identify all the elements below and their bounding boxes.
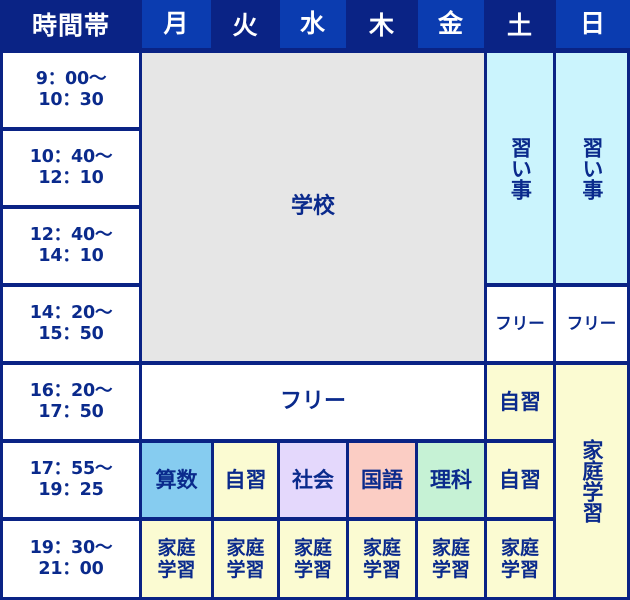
homestudy-line1: 家庭 [501, 537, 539, 559]
cell-selfstudy-sat-row5[interactable]: 自習 [487, 365, 553, 439]
time-slot-7-start: 19：30〜 [30, 538, 113, 559]
time-slot-1-end: 10：30 [38, 90, 103, 111]
weekly-timetable: 時間帯 月 火 水 木 金 土 日 9：00〜 10：30 10：40〜 12：… [0, 0, 630, 600]
cell-homestudy-sat-row7[interactable]: 家庭 学習 [487, 521, 553, 597]
homestudy-line1: 家庭 [432, 537, 470, 559]
cell-subject-thu-row6[interactable]: 国語 [349, 443, 415, 517]
header-day-sun[interactable]: 日 [556, 0, 630, 48]
block-lesson-sat[interactable]: 習い事 [487, 53, 553, 283]
time-slot-7: 19：30〜 21：00 [3, 521, 139, 597]
time-slot-4-end: 15：50 [38, 324, 103, 345]
time-slot-3-end: 14：10 [38, 246, 103, 267]
cell-subject-wed-row6[interactable]: 社会 [280, 443, 346, 517]
block-lesson-sun-label: 習い事 [579, 137, 604, 200]
cell-subject-mon-row6[interactable]: 算数 [142, 443, 211, 517]
homestudy-line2: 学習 [226, 559, 264, 581]
cell-free-sat-row4[interactable]: フリー [487, 287, 553, 361]
block-school[interactable]: 学校 [142, 53, 484, 361]
homestudy-line2: 学習 [157, 559, 195, 581]
block-lesson-sat-label: 習い事 [508, 137, 533, 200]
block-lesson-sun[interactable]: 習い事 [556, 53, 627, 283]
time-slot-7-end: 21：00 [38, 559, 103, 580]
block-homestudy-sun-label: 家庭学習 [579, 439, 604, 523]
cell-subject-sat-row6[interactable]: 自習 [487, 443, 553, 517]
time-slot-2: 10：40〜 12：10 [3, 131, 139, 205]
homestudy-line2: 学習 [363, 559, 401, 581]
time-slot-2-end: 12：10 [38, 168, 103, 189]
cell-homestudy-thu-row7[interactable]: 家庭 学習 [349, 521, 415, 597]
homestudy-line2: 学習 [294, 559, 332, 581]
block-homestudy-sun[interactable]: 家庭学習 [556, 365, 627, 597]
header-day-wed[interactable]: 水 [280, 0, 346, 48]
cell-homestudy-mon-row7[interactable]: 家庭 学習 [142, 521, 211, 597]
cell-homestudy-fri-row7[interactable]: 家庭 学習 [418, 521, 484, 597]
header-day-mon[interactable]: 月 [142, 0, 211, 48]
header-day-tue[interactable]: 火 [214, 3, 277, 48]
homestudy-line1: 家庭 [226, 537, 264, 559]
header-time-label: 時間帯 [3, 3, 139, 48]
cell-homestudy-tue-row7[interactable]: 家庭 学習 [214, 521, 277, 597]
block-free-weekday-row5[interactable]: フリー [142, 365, 484, 439]
header-day-thu[interactable]: 木 [349, 3, 415, 48]
time-slot-2-start: 10：40〜 [30, 147, 113, 168]
header-day-fri[interactable]: 金 [418, 0, 484, 48]
time-slot-1-start: 9：00〜 [36, 69, 107, 90]
time-slot-6-start: 17：55〜 [30, 459, 113, 480]
homestudy-line1: 家庭 [294, 537, 332, 559]
time-slot-3: 12：40〜 14：10 [3, 209, 139, 283]
time-slot-5-start: 16：20〜 [30, 381, 113, 402]
cell-homestudy-wed-row7[interactable]: 家庭 学習 [280, 521, 346, 597]
cell-subject-tue-row6[interactable]: 自習 [214, 443, 277, 517]
time-slot-6-end: 19：25 [38, 480, 103, 501]
homestudy-line1: 家庭 [157, 537, 195, 559]
time-slot-3-start: 12：40〜 [30, 225, 113, 246]
time-slot-5-end: 17：50 [38, 402, 103, 423]
homestudy-line1: 家庭 [363, 537, 401, 559]
cell-subject-fri-row6[interactable]: 理科 [418, 443, 484, 517]
time-slot-4-start: 14：20〜 [30, 303, 113, 324]
header-day-sat[interactable]: 土 [487, 3, 553, 48]
cell-free-sun-row4[interactable]: フリー [556, 287, 627, 361]
time-slot-1: 9：00〜 10：30 [3, 53, 139, 127]
time-slot-4: 14：20〜 15：50 [3, 287, 139, 361]
homestudy-line2: 学習 [501, 559, 539, 581]
homestudy-line2: 学習 [432, 559, 470, 581]
time-slot-5: 16：20〜 17：50 [3, 365, 139, 439]
time-slot-6: 17：55〜 19：25 [3, 443, 139, 517]
